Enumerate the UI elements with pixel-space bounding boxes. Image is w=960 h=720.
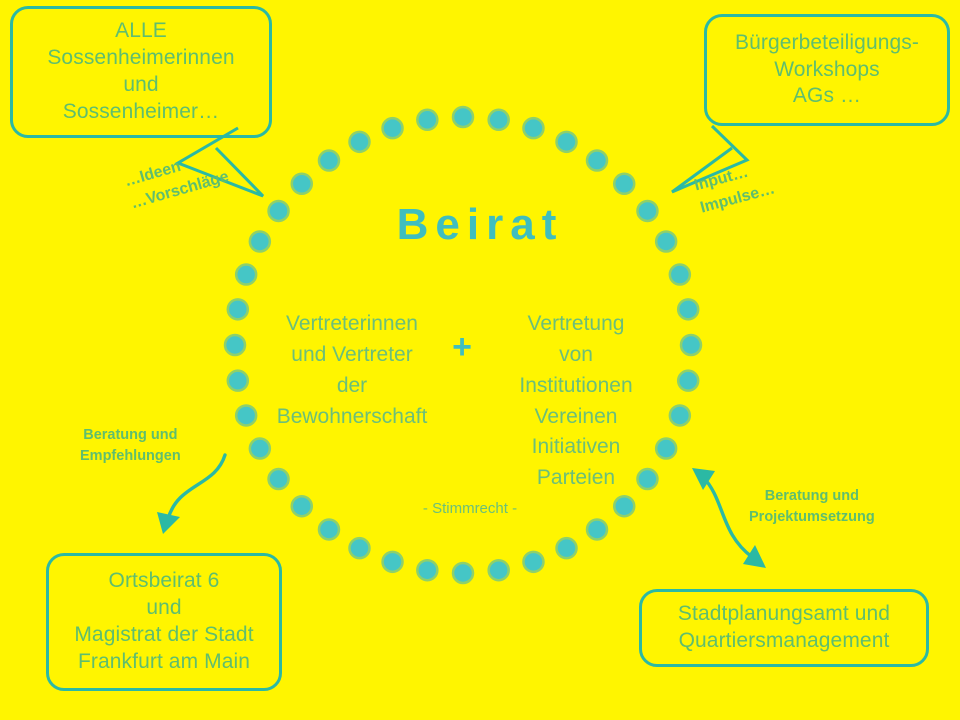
bubble-workshops-ags[interactable]: Bürgerbeteiligungs- Workshops AGs … <box>704 14 950 126</box>
label-line: Empfehlungen <box>80 446 181 467</box>
bubble-line: Sossenheimer… <box>63 99 220 126</box>
ring-dot <box>292 174 312 194</box>
ring-dot <box>557 132 577 152</box>
group-line: Vereinen <box>478 402 674 433</box>
label-line: Beratung und <box>749 486 875 507</box>
box-line: Magistrat der Stadt <box>74 622 253 649</box>
group-line: Vertreterinnen <box>254 309 450 340</box>
ring-dot <box>269 469 289 489</box>
box-line: und <box>146 595 181 622</box>
label-line: Beratung und <box>80 425 181 446</box>
ring-dot <box>614 496 634 516</box>
ring-dot <box>587 519 607 539</box>
arrowhead-projekt-down <box>743 545 766 568</box>
group-line: von <box>478 340 674 371</box>
group-line: Initiativen <box>478 432 674 463</box>
ring-dot <box>383 118 403 138</box>
bubble-line: AGs … <box>793 83 861 110</box>
ring-dot <box>678 299 698 319</box>
plus-icon: + <box>444 330 480 364</box>
box-line: Stadtplanungsamt und <box>678 601 890 628</box>
bubble-line: und <box>123 72 158 99</box>
ring-dot <box>250 439 270 459</box>
label-beratung-projektumsetzung: Beratung und Projektumsetzung <box>749 486 875 527</box>
bubble-line: Workshops <box>774 57 880 84</box>
ring-dot <box>489 560 509 580</box>
arrowhead-projekt-up <box>692 468 715 490</box>
ring-dot <box>453 107 473 127</box>
ring-dot <box>349 538 369 558</box>
arrowhead-beratung-empfehlungen <box>157 512 180 534</box>
ring-dot <box>292 496 312 516</box>
bubble-line: ALLE <box>115 18 167 45</box>
ring-dot <box>236 265 256 285</box>
ring-dot <box>678 371 698 391</box>
diagram-title-beirat: Beirat <box>0 200 960 250</box>
ring-dot <box>228 299 248 319</box>
ring-dot <box>349 132 369 152</box>
bubble-line: Sossenheimerinnen <box>47 45 234 72</box>
ring-dot <box>489 110 509 130</box>
ring-dot <box>228 371 248 391</box>
box-line: Quartiersmanagement <box>679 628 890 655</box>
ring-dot <box>417 560 437 580</box>
ring-dot <box>670 265 690 285</box>
ring-dot <box>681 335 701 355</box>
ring-dot <box>523 118 543 138</box>
footnote-stimmrecht: - Stimmrecht - <box>340 500 600 517</box>
diagram-canvas: ALLE Sossenheimerinnen und Sossenheimer…… <box>0 0 960 720</box>
ring-dot <box>614 174 634 194</box>
bubble-all-citizens[interactable]: ALLE Sossenheimerinnen und Sossenheimer… <box>10 6 272 138</box>
label-line: Projektumsetzung <box>749 507 875 528</box>
ring-dot <box>587 151 607 171</box>
box-line: Frankfurt am Main <box>78 649 250 676</box>
ring-dot <box>453 563 473 583</box>
ring-dot <box>383 552 403 572</box>
ring-dot <box>557 538 577 558</box>
group-line: der <box>254 371 450 402</box>
box-stadtplanungsamt-quartiersmanagement[interactable]: Stadtplanungsamt und Quartiersmanagement <box>639 589 929 667</box>
group-institutionen: Vertretung von Institutionen Vereinen In… <box>478 309 674 494</box>
ring-dot <box>523 552 543 572</box>
group-line: und Vertreter <box>254 340 450 371</box>
box-line: Ortsbeirat 6 <box>109 568 220 595</box>
bubble-line: Bürgerbeteiligungs- <box>735 30 919 57</box>
box-ortsbeirat-magistrat[interactable]: Ortsbeirat 6 und Magistrat der Stadt Fra… <box>46 553 282 691</box>
ring-dot <box>225 335 245 355</box>
ring-dot <box>319 151 339 171</box>
label-beratung-empfehlungen: Beratung und Empfehlungen <box>80 425 181 466</box>
group-line: Bewohnerschaft <box>254 402 450 433</box>
arrow-beratung-projektumsetzung <box>703 477 752 557</box>
group-line: Parteien <box>478 463 674 494</box>
group-bewohnerschaft: Vertreterinnen und Vertreter der Bewohne… <box>254 309 450 432</box>
ring-dot <box>319 519 339 539</box>
group-line: Institutionen <box>478 371 674 402</box>
ring-dot <box>417 110 437 130</box>
group-line: Vertretung <box>478 309 674 340</box>
